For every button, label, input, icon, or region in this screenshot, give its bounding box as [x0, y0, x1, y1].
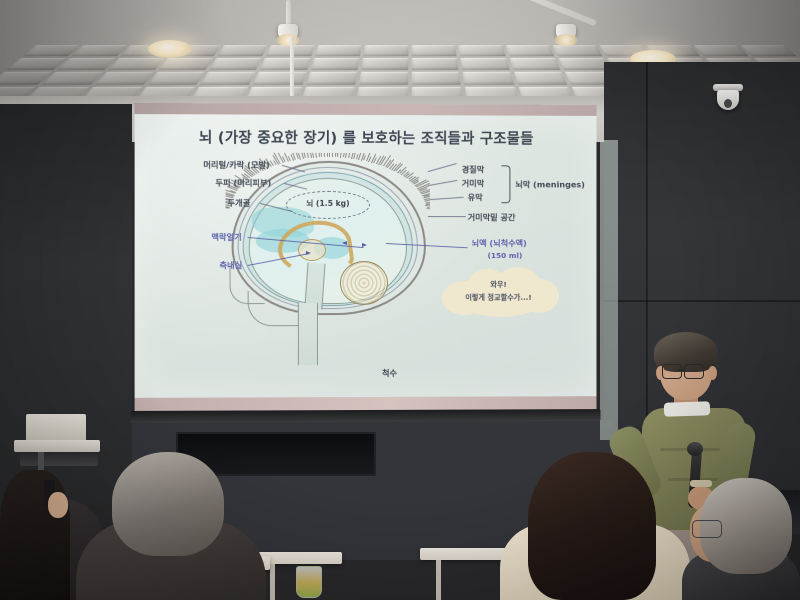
label-dura-mater: 경질막 [462, 163, 484, 175]
slide-content: 뇌 (가장 중요한 장기) 를 보호하는 조직들과 구조물들 [135, 114, 597, 398]
ceiling-downlight-1 [148, 40, 192, 58]
eyeglasses-icon [662, 364, 682, 379]
label-hair: 머리털/카락 (모발) [203, 159, 270, 171]
label-meninges: 뇌막 (meninges) [515, 178, 585, 190]
av-monitor [26, 414, 86, 442]
desk-leg [270, 564, 275, 600]
brain-weight-callout: 뇌 (1.5 kg) [286, 191, 370, 219]
wristwatch [690, 480, 712, 487]
meninges-brace [501, 165, 510, 203]
label-arachnoid: 거미막 [462, 177, 484, 189]
brain-weight-label: 뇌 (1.5 kg) [287, 198, 369, 209]
arrow-choroid-plexus [362, 243, 367, 247]
cerebellum [340, 261, 388, 305]
eyeglasses-bridge [678, 369, 684, 371]
label-csf: 뇌액 (뇌척수액) [472, 237, 527, 249]
fruit-cup [296, 566, 322, 598]
desk [258, 552, 342, 564]
presenter-ear [708, 366, 717, 380]
lecture-hall-scene: 뇌 (가장 중요한 장기) 를 보호하는 조직들과 구조물들 [0, 0, 800, 600]
wall-panel-seam [604, 300, 800, 302]
slide-title: 뇌 (가장 중요한 장기) 를 보호하는 조직들과 구조물들 [135, 126, 597, 149]
camera-lens-icon [724, 99, 732, 108]
leader-subarachnoid-space [428, 216, 466, 217]
eyeglasses-icon [692, 520, 722, 538]
callout-line-2: 이렇게 정교할수가...! [436, 293, 561, 304]
label-spinal-cord: 척수 [382, 367, 397, 379]
arrow-csf [342, 241, 347, 245]
screen-bottom-bar [131, 409, 601, 423]
presenter-collar [664, 401, 710, 417]
desk-leg [436, 560, 441, 600]
callout-line-1: 와우! [436, 280, 561, 290]
label-pia-mater: 유막 [468, 191, 483, 203]
label-lateral-ventricle: 측내실 [219, 259, 242, 271]
av-shelf [14, 440, 100, 452]
label-scalp: 두피 (머리피부) [215, 177, 271, 189]
projection-screen: 뇌 (가장 중요한 장기) 를 보호하는 조직들과 구조물들 [135, 103, 597, 421]
arrow-lateral-ventricle [306, 251, 311, 255]
attendee-left-phone-hand [48, 492, 68, 518]
label-csf-volume: (150 ml) [488, 251, 523, 260]
attendee-right-hair [528, 452, 656, 600]
attendee-center-head [112, 452, 224, 556]
microphone-head-icon [687, 442, 703, 456]
av-control-unit[interactable] [20, 452, 98, 466]
attendee-left-phone-hair [0, 470, 70, 600]
pendant-light-rod-2 [290, 36, 294, 104]
label-skull: 두개골 [228, 197, 251, 209]
spinal-cord-shape [298, 303, 318, 365]
pendant-light-rod-1 [286, 0, 291, 26]
label-choroid-plexus: 맥락얼기 [211, 231, 241, 243]
label-subarachnoid-space: 거미막밑 공간 [468, 211, 516, 223]
pendant-light-glow-1 [276, 34, 300, 46]
eyeglasses-icon [684, 364, 704, 379]
pendant-light-glow-2 [554, 34, 578, 46]
callout-cloud: 와우! 이렇게 정교할수가...! [436, 267, 561, 319]
